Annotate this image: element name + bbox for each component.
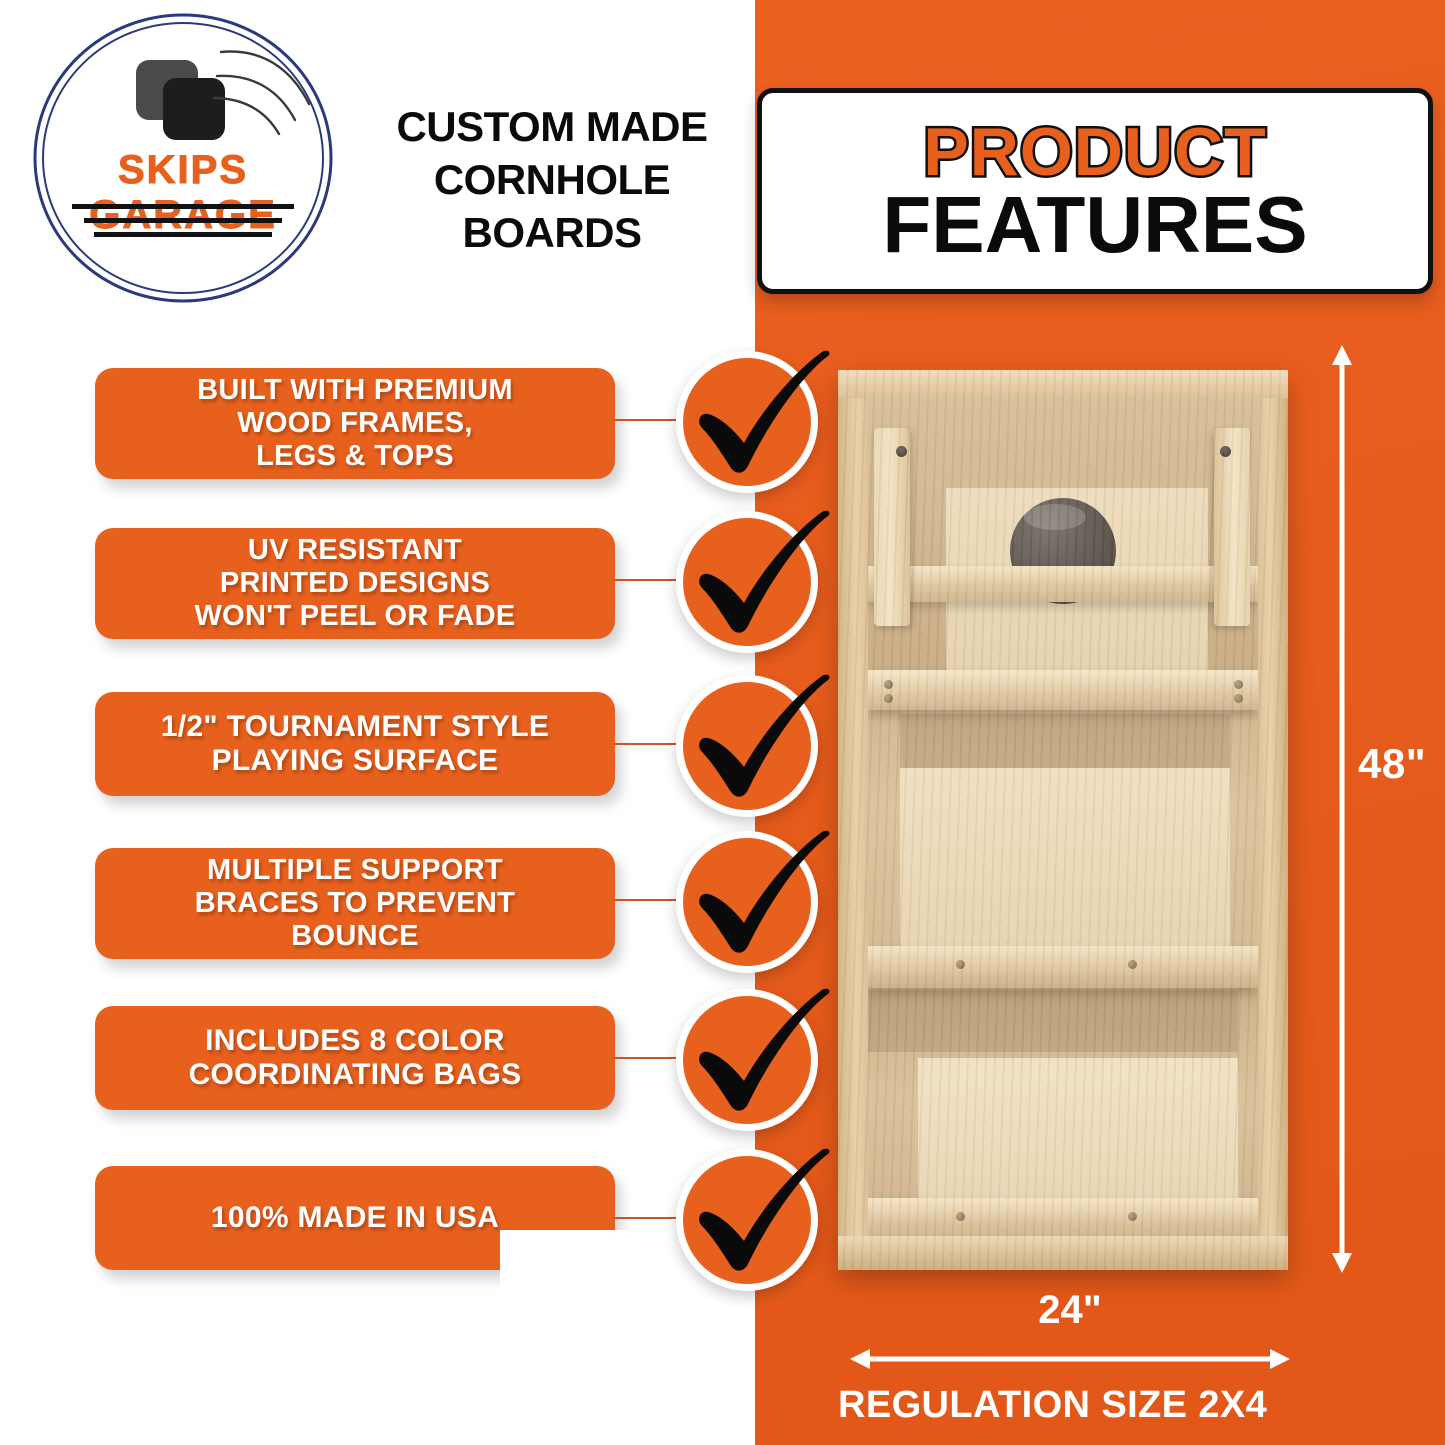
feature-row: MULTIPLE SUPPORT BRACES TO PREVENT BOUNC… xyxy=(0,848,830,968)
headline-line-1: CUSTOM MADE xyxy=(352,100,752,153)
feature-pill[interactable]: 1/2" TOURNAMENT STYLE PLAYING SURFACE xyxy=(95,692,615,796)
check-mark-icon xyxy=(686,666,836,816)
regulation-size-text: REGULATION SIZE 2X4 xyxy=(838,1384,1338,1427)
feature-pill-label: UV RESISTANT PRINTED DESIGNS WON'T PEEL … xyxy=(194,534,515,633)
feature-pill[interactable]: INCLUDES 8 COLOR COORDINATING BAGS xyxy=(95,1006,615,1110)
feature-row: UV RESISTANT PRINTED DESIGNS WON'T PEEL … xyxy=(0,528,830,648)
check-mark-icon xyxy=(686,980,836,1130)
feature-pill[interactable]: UV RESISTANT PRINTED DESIGNS WON'T PEEL … xyxy=(95,528,615,639)
feature-pill-label: 1/2" TOURNAMENT STYLE PLAYING SURFACE xyxy=(161,710,549,778)
product-features-title-panel: PRODUCT FEATURES xyxy=(757,88,1433,294)
support-brace xyxy=(868,670,1258,710)
logo-underline-rules xyxy=(18,204,348,246)
width-dimension-arrow xyxy=(850,1348,1290,1370)
folding-leg-right xyxy=(1214,428,1250,626)
support-brace xyxy=(868,1198,1258,1240)
height-dimension-arrow xyxy=(1330,345,1354,1273)
feature-row: 100% MADE IN USA xyxy=(0,1166,830,1286)
feature-row: BUILT WITH PREMIUM WOOD FRAMES, LEGS & T… xyxy=(0,368,830,488)
title-product: PRODUCT xyxy=(923,119,1266,185)
folding-leg-left xyxy=(874,428,910,626)
infographic-canvas: SKIPS GARAGE CUSTOM MADE CORNHOLE BOARDS… xyxy=(0,0,1445,1445)
logo-motion-arcs-icon xyxy=(213,46,323,146)
feature-row: 1/2" TOURNAMENT STYLE PLAYING SURFACE xyxy=(0,692,830,812)
check-mark-icon xyxy=(686,1140,836,1290)
feature-pill-label: 100% MADE IN USA xyxy=(211,1201,499,1235)
check-mark-icon xyxy=(686,822,836,972)
check-mark-icon xyxy=(686,342,836,492)
headline-line-2: CORNHOLE xyxy=(352,153,752,206)
product-photo-cornhole-board xyxy=(838,370,1288,1270)
height-dimension-label: 48" xyxy=(1358,740,1426,788)
page-headline: CUSTOM MADE CORNHOLE BOARDS xyxy=(352,100,752,259)
feature-pill-label: BUILT WITH PREMIUM WOOD FRAMES, LEGS & T… xyxy=(197,374,513,473)
feature-pill[interactable]: BUILT WITH PREMIUM WOOD FRAMES, LEGS & T… xyxy=(95,368,615,479)
feature-pill-label: INCLUDES 8 COLOR COORDINATING BAGS xyxy=(189,1024,522,1092)
feature-row: INCLUDES 8 COLOR COORDINATING BAGS xyxy=(0,1006,830,1126)
title-features: FEATURES xyxy=(882,187,1307,263)
feature-pill[interactable]: MULTIPLE SUPPORT BRACES TO PREVENT BOUNC… xyxy=(95,848,615,959)
check-mark-icon xyxy=(686,502,836,652)
headline-line-3: BOARDS xyxy=(352,206,752,259)
support-brace xyxy=(868,566,1258,602)
width-dimension-label: 24" xyxy=(850,1288,1290,1333)
brand-logo: SKIPS GARAGE xyxy=(18,8,348,308)
support-brace xyxy=(868,946,1258,988)
feature-pill-label: MULTIPLE SUPPORT BRACES TO PREVENT BOUNC… xyxy=(195,854,515,953)
